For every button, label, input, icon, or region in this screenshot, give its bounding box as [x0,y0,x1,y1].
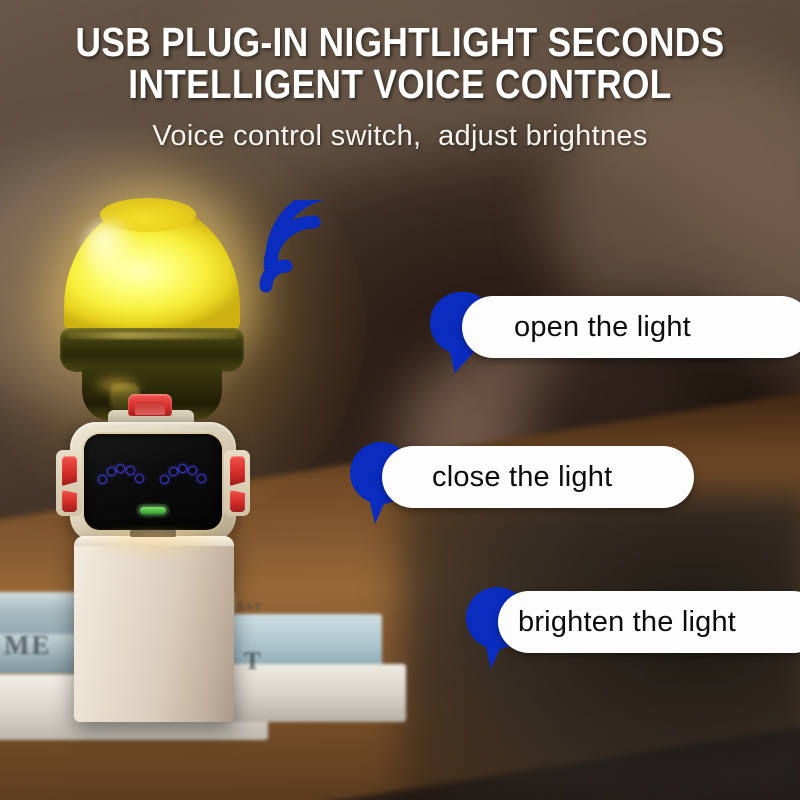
green-led-indicator [136,504,170,517]
side-accent-left-top [62,456,77,486]
side-accent-right-top [230,456,245,486]
robot-face-screen [84,434,222,530]
headline-line-2: INTELLIGENT VOICE CONTROL [56,64,744,106]
device-base-glow [74,532,234,558]
lamp-collar-glow [90,374,144,396]
voice-command-label-brighten: brighten the light [518,606,736,639]
side-accent-left-bottom [62,490,77,512]
voice-control-nightlight[interactable] [56,196,276,756]
side-accent-left [56,450,82,516]
robot-eye-left [98,464,146,484]
side-accent-right [224,450,250,516]
voice-command-label-close: close the light [432,461,612,494]
robot-eye-right [160,464,208,484]
power-button-inner [135,402,165,415]
bubble-body-brighten: brighten the light [498,591,800,653]
voice-command-label-open: open the light [514,311,691,344]
side-accent-right-bottom [230,490,245,512]
page-subtitle: Voice control switch, adjust brightnes [0,120,800,153]
device-base-block [74,536,234,722]
bubble-body-close: close the light [382,446,694,508]
headline-line-1: USB PLUG-IN NIGHTLIGHT SECONDS [56,22,744,64]
lamp-dome-highlight [82,220,136,278]
page-title: USB PLUG-IN NIGHTLIGHT SECONDS INTELLIGE… [56,22,744,106]
book-spine-text-1: ME [4,630,52,661]
lamp-band-highlight [66,332,238,339]
product-poster: ME T EST [0,0,800,800]
wifi-signal-icon [252,200,350,298]
bubble-body-open: open the light [462,296,800,358]
